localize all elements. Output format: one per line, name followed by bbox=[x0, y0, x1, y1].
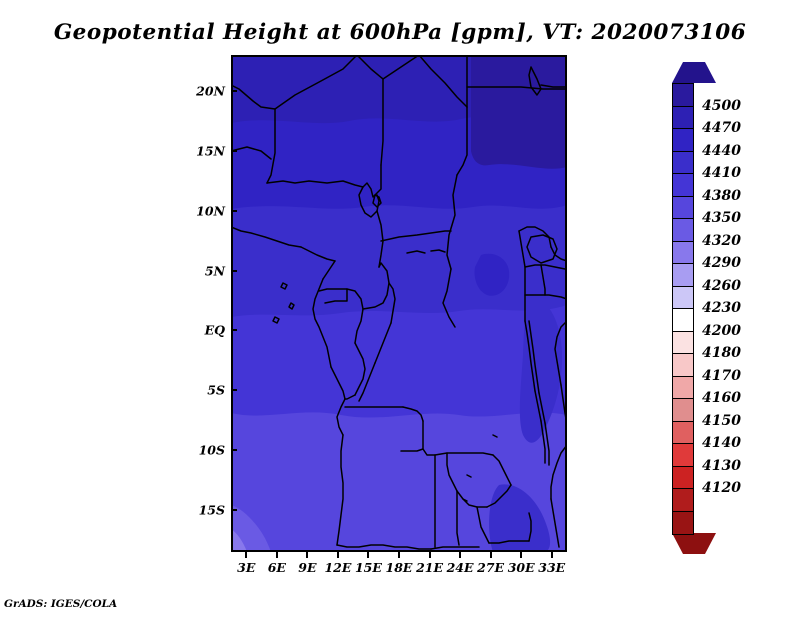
lat-tick-mark bbox=[231, 210, 237, 212]
colorbar-label-4120: 4120 bbox=[702, 480, 741, 496]
colorbar-label-4410: 4410 bbox=[702, 165, 741, 181]
lat-tick-mark bbox=[231, 509, 237, 511]
lat-tick-label-15S: 15S bbox=[199, 503, 225, 518]
colorbar-label-4440: 4440 bbox=[702, 143, 741, 159]
colorbar-band-13[interactable] bbox=[672, 376, 694, 400]
colorbar-label-4170: 4170 bbox=[702, 368, 741, 384]
lon-tick-label-21E: 21E bbox=[416, 560, 443, 575]
colorbar-band-1[interactable] bbox=[672, 106, 694, 130]
colorbar-band-5[interactable] bbox=[672, 196, 694, 220]
field-band-4500-ne bbox=[471, 55, 567, 169]
lon-tick-mark bbox=[429, 552, 431, 558]
colorbar-band-2[interactable] bbox=[672, 128, 694, 152]
lon-tick-label-24E: 24E bbox=[447, 560, 474, 575]
lon-tick-mark bbox=[306, 552, 308, 558]
credit-label: GrADS: IGES/COLA bbox=[4, 598, 117, 610]
colorbar-label-4130: 4130 bbox=[702, 458, 741, 474]
lon-tick-label-3E: 3E bbox=[237, 560, 255, 575]
colorbar-band-9[interactable] bbox=[672, 286, 694, 310]
colorbar-band-0[interactable] bbox=[672, 83, 694, 107]
lon-tick-label-30E: 30E bbox=[508, 560, 535, 575]
colorbar-band-4[interactable] bbox=[672, 173, 694, 197]
lat-tick-mark bbox=[231, 329, 237, 331]
lon-tick-label-27E: 27E bbox=[477, 560, 504, 575]
colorbar-label-4260: 4260 bbox=[702, 278, 741, 294]
colorbar-label-4230: 4230 bbox=[702, 300, 741, 316]
lat-tick-label-5S: 5S bbox=[207, 383, 225, 398]
lon-tick-label-18E: 18E bbox=[386, 560, 413, 575]
latitude-axis: 20N15N10N5NEQ5S10S15S bbox=[185, 55, 225, 552]
lon-tick-mark bbox=[459, 552, 461, 558]
lon-tick-mark bbox=[398, 552, 400, 558]
colorbar-label-4160: 4160 bbox=[702, 390, 741, 406]
colorbar-band-15[interactable] bbox=[672, 421, 694, 445]
colorbar-band-7[interactable] bbox=[672, 241, 694, 265]
colorbar-band-3[interactable] bbox=[672, 151, 694, 175]
colorbar-top-cap bbox=[672, 62, 716, 83]
lat-tick-mark bbox=[231, 270, 237, 272]
colorbar-band-12[interactable] bbox=[672, 353, 694, 377]
colorbar-label-4500: 4500 bbox=[702, 98, 741, 114]
colorbar-label-4180: 4180 bbox=[702, 345, 741, 361]
colorbar-band-14[interactable] bbox=[672, 398, 694, 422]
colorbar-band-11[interactable] bbox=[672, 331, 694, 355]
colorbar-label-4140: 4140 bbox=[702, 435, 741, 451]
lon-tick-mark bbox=[245, 552, 247, 558]
lon-tick-mark bbox=[520, 552, 522, 558]
lat-tick-label-10S: 10S bbox=[199, 443, 225, 458]
colorbar-band-6[interactable] bbox=[672, 218, 694, 242]
lat-tick-label-10N: 10N bbox=[196, 203, 225, 218]
lat-tick-label-15N: 15N bbox=[196, 143, 225, 158]
lat-tick-mark bbox=[231, 389, 237, 391]
colorbar-label-4350: 4350 bbox=[702, 210, 741, 226]
lon-tick-mark bbox=[367, 552, 369, 558]
geopotential-height-map bbox=[231, 55, 567, 552]
colorbar-band-10[interactable] bbox=[672, 308, 694, 332]
lat-tick-label-5N: 5N bbox=[205, 263, 225, 278]
colorbar-band-16[interactable] bbox=[672, 443, 694, 467]
page-title: Geopotential Height at 600hPa [gpm], VT:… bbox=[0, 20, 800, 45]
lon-tick-label-33E: 33E bbox=[538, 560, 565, 575]
lat-tick-mark bbox=[231, 90, 237, 92]
lon-tick-mark bbox=[276, 552, 278, 558]
colorbar-label-4320: 4320 bbox=[702, 233, 741, 249]
lon-tick-mark bbox=[551, 552, 553, 558]
lat-tick-mark bbox=[231, 150, 237, 152]
colorbar[interactable]: 4500447044404410438043504320429042604230… bbox=[668, 62, 700, 554]
colorbar-bottom-cap bbox=[672, 533, 716, 554]
lon-tick-label-12E: 12E bbox=[324, 560, 351, 575]
lat-tick-label-EQ: EQ bbox=[205, 323, 225, 338]
colorbar-label-4200: 4200 bbox=[702, 323, 741, 339]
lon-tick-label-6E: 6E bbox=[268, 560, 286, 575]
colorbar-label-4150: 4150 bbox=[702, 413, 741, 429]
colorbar-label-4470: 4470 bbox=[702, 120, 741, 136]
lon-tick-label-9E: 9E bbox=[298, 560, 316, 575]
lat-tick-mark bbox=[231, 449, 237, 451]
colorbar-label-4290: 4290 bbox=[702, 255, 741, 271]
colorbar-band-8[interactable] bbox=[672, 263, 694, 287]
map-plot-area bbox=[231, 55, 567, 552]
lon-tick-label-15E: 15E bbox=[355, 560, 382, 575]
lat-tick-label-20N: 20N bbox=[196, 83, 225, 98]
lon-tick-mark bbox=[337, 552, 339, 558]
colorbar-band-18[interactable] bbox=[672, 488, 694, 512]
colorbar-band-19[interactable] bbox=[672, 511, 694, 535]
colorbar-band-17[interactable] bbox=[672, 466, 694, 490]
lon-tick-mark bbox=[490, 552, 492, 558]
colorbar-label-4380: 4380 bbox=[702, 188, 741, 204]
